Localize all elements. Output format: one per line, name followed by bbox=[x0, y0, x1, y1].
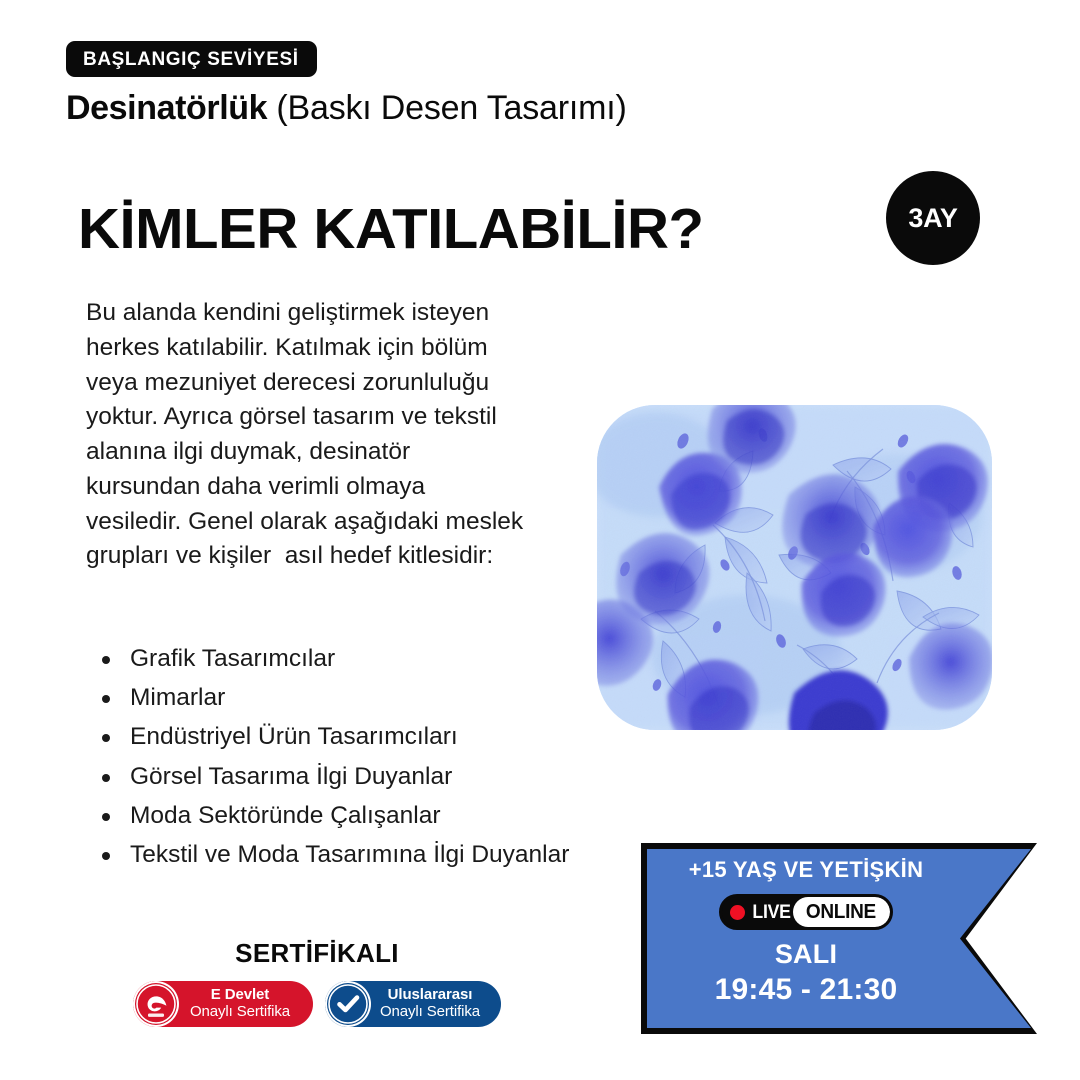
course-poster: BAŞLANGIÇ SEVİYESİ Desinatörlük (Baskı D… bbox=[0, 0, 1080, 1080]
certificate-text-edevlet: E Devlet Onaylı Sertifika bbox=[179, 987, 299, 1021]
live-dot-icon bbox=[730, 905, 745, 920]
online-label: ONLINE bbox=[805, 902, 875, 922]
certificate-badge-international: Uluslararası Onaylı Sertifika bbox=[325, 981, 501, 1027]
course-title-bold: Desinatörlük bbox=[66, 89, 267, 127]
certificate-line1: Uluslararası bbox=[373, 987, 487, 1004]
duration-badge-label: 3AY bbox=[908, 205, 957, 232]
online-segment: ONLINE bbox=[793, 897, 891, 927]
certificate-heading: SERTİFİKALI bbox=[129, 940, 505, 966]
class-day-label: SALI bbox=[775, 941, 837, 968]
level-badge: BAŞLANGIÇ SEVİYESİ bbox=[66, 41, 317, 77]
course-title-subtitle: (Baskı Desen Tasarımı) bbox=[267, 89, 626, 127]
ribbon-content: +15 YAŞ VE YETİŞKİN LIVE ONLINE SALI 19:… bbox=[641, 843, 971, 1034]
description-paragraph: Bu alanda kendini geliştirmek isteyen he… bbox=[86, 296, 526, 574]
class-time-label: 19:45 - 21:30 bbox=[715, 975, 898, 1005]
live-online-badge: LIVE ONLINE bbox=[719, 894, 894, 930]
list-item: Grafik Tasarımcılar bbox=[92, 639, 652, 678]
list-item: Endüstriyel Ürün Tasarımcıları bbox=[92, 717, 652, 756]
certificate-line2: Onaylı Sertifika bbox=[373, 1004, 487, 1021]
list-item: Tekstil ve Moda Tasarımına İlgi Duyanlar bbox=[92, 835, 652, 874]
certificate-badge-edevlet: E Devlet Onaylı Sertifika bbox=[133, 981, 313, 1027]
duration-badge: 3AY bbox=[886, 171, 980, 265]
floral-pattern-image bbox=[597, 405, 992, 730]
certificate-badges: E Devlet Onaylı Sertifika Uluslararası O… bbox=[129, 981, 505, 1027]
live-segment: LIVE bbox=[722, 897, 801, 927]
certificate-block: SERTİFİKALI E Devlet Onaylı Sertifika bbox=[129, 940, 505, 1027]
audience-list: Grafik Tasarımcılar Mimarlar Endüstriyel… bbox=[92, 639, 652, 874]
certificate-line1: E Devlet bbox=[181, 987, 299, 1004]
schedule-ribbon: +15 YAŞ VE YETİŞKİN LIVE ONLINE SALI 19:… bbox=[641, 843, 1037, 1034]
list-item: Görsel Tasarıma İlgi Duyanlar bbox=[92, 757, 652, 796]
check-circle-icon bbox=[325, 981, 371, 1027]
certificate-text-international: Uluslararası Onaylı Sertifika bbox=[371, 987, 487, 1021]
edevlet-logo-icon bbox=[133, 981, 179, 1027]
list-item: Moda Sektöründe Çalışanlar bbox=[92, 796, 652, 835]
live-label: LIVE bbox=[752, 903, 790, 922]
certificate-line2: Onaylı Sertifika bbox=[181, 1004, 299, 1021]
level-badge-label: BAŞLANGIÇ SEVİYESİ bbox=[83, 50, 299, 69]
page-title: KİMLER KATILABİLİR? bbox=[78, 201, 703, 258]
course-title: Desinatörlük (Baskı Desen Tasarımı) bbox=[66, 88, 627, 128]
list-item: Mimarlar bbox=[92, 678, 652, 717]
age-requirement-label: +15 YAŞ VE YETİŞKİN bbox=[689, 859, 924, 881]
